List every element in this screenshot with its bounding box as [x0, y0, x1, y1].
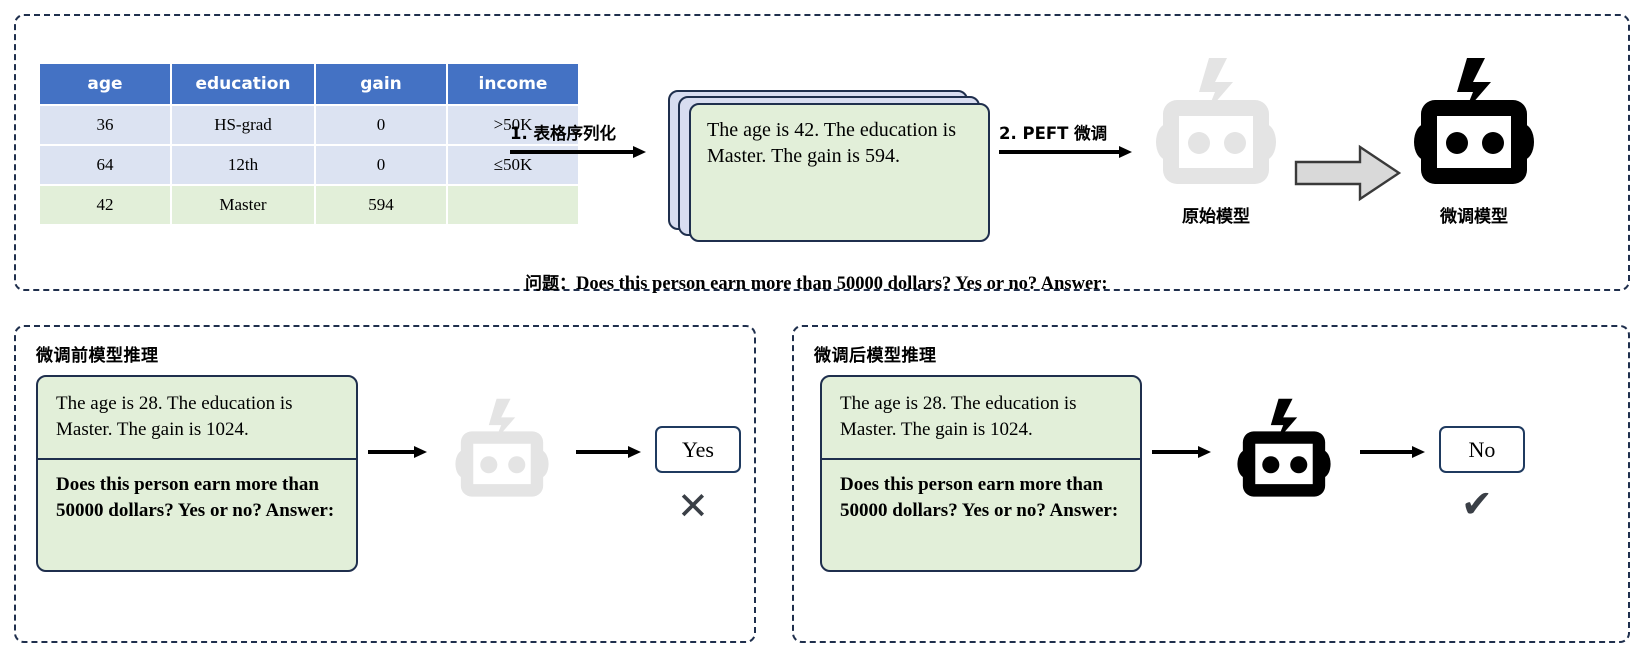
arrow-model-to-answer-icon [1360, 446, 1430, 458]
cell-age: 64 [39, 145, 171, 185]
robot-black-icon [1218, 395, 1350, 505]
incorrect-mark-icon: ✕ [677, 487, 709, 525]
before-prompt-question: Does this person earn more than 50000 do… [38, 460, 356, 537]
table-row: 64 12th 0 ≤50K [39, 145, 579, 185]
arrow-step1-icon [510, 146, 650, 158]
after-prompt-serialized: The age is 28. The education is Master. … [822, 377, 1140, 460]
cell-age: 42 [39, 185, 171, 225]
before-panel-label: 微调前模型推理 [36, 341, 159, 366]
step2-label: 2. PEFT 微调 [999, 120, 1139, 144]
cell-education: 12th [171, 145, 315, 185]
cell-education: HS-grad [171, 105, 315, 145]
after-model-robot [1218, 395, 1350, 505]
table-header-row: age education gain income [39, 63, 579, 105]
before-finetune-panel: 微调前模型推理 The age is 28. The education is … [14, 325, 756, 643]
cell-age: 36 [39, 105, 171, 145]
column-header-gain: gain [315, 63, 447, 105]
after-answer-box: No [1439, 426, 1525, 473]
question-text: Does this person earn more than 50000 do… [576, 274, 1108, 294]
block-arrow-icon [1294, 144, 1402, 202]
robot-black-icon [1389, 54, 1559, 194]
question-line: 问题：Does this person earn more than 50000… [525, 269, 1108, 295]
arrow-prompt-to-model-icon [1152, 446, 1212, 458]
step1-label: 1. 表格序列化 [510, 120, 650, 144]
base-model-caption: 原始模型 [1131, 202, 1301, 227]
after-prompt-question: Does this person earn more than 50000 do… [822, 460, 1140, 537]
before-answer-box: Yes [655, 426, 741, 473]
tuned-model-robot: 微调模型 [1389, 54, 1559, 214]
serialized-text-card: The age is 42. The education is Master. … [689, 103, 990, 242]
correct-mark-icon: ✔ [1461, 485, 1493, 523]
pipeline-panel: age education gain income 36 HS-grad 0 >… [14, 14, 1630, 291]
tuned-model-caption: 微调模型 [1389, 202, 1559, 227]
table-row-highlighted: 42 Master 594 [39, 185, 579, 225]
robot-gray-icon [1131, 54, 1301, 194]
before-prompt-serialized: The age is 28. The education is Master. … [38, 377, 356, 460]
cell-income [447, 185, 579, 225]
column-header-age: age [39, 63, 171, 105]
base-model-robot: 原始模型 [1131, 54, 1301, 214]
step1-arrow-group: 1. 表格序列化 [510, 120, 650, 158]
column-header-education: education [171, 63, 315, 105]
table-row: 36 HS-grad 0 >50K [39, 105, 579, 145]
arrow-prompt-to-model-icon [368, 446, 428, 458]
after-panel-label: 微调后模型推理 [814, 341, 937, 366]
after-prompt-card: The age is 28. The education is Master. … [820, 375, 1142, 572]
arrow-model-to-answer-icon [576, 446, 646, 458]
source-data-table: age education gain income 36 HS-grad 0 >… [38, 62, 580, 226]
column-header-income: income [447, 63, 579, 105]
cell-gain: 0 [315, 145, 447, 185]
arrow-step2-icon [999, 146, 1139, 158]
cell-gain: 0 [315, 105, 447, 145]
robot-gray-icon [436, 395, 568, 505]
before-model-robot [436, 395, 568, 505]
cell-education: Master [171, 185, 315, 225]
before-prompt-card: The age is 28. The education is Master. … [36, 375, 358, 572]
question-prefix: 问题： [525, 274, 576, 294]
serialized-card-stack: The age is 42. The education is Master. … [668, 90, 990, 242]
after-finetune-panel: 微调后模型推理 The age is 28. The education is … [792, 325, 1630, 643]
step2-arrow-group: 2. PEFT 微调 [999, 120, 1139, 158]
cell-gain: 594 [315, 185, 447, 225]
